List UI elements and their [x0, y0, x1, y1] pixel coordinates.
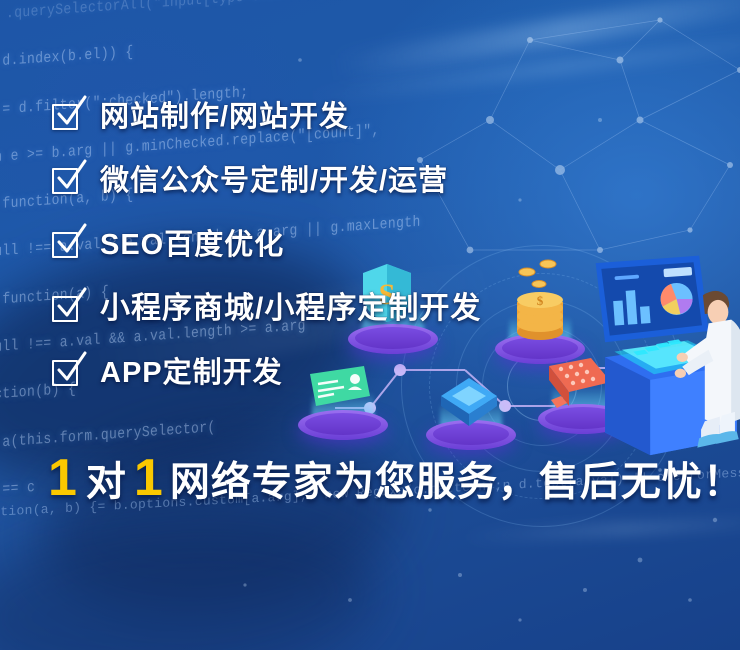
svg-text:$: $ — [537, 293, 544, 308]
feature-item-miniprogram[interactable]: 小程序商城/小程序定制开发 — [52, 288, 481, 330]
tagline-number-first: 1 — [48, 452, 77, 504]
feature-item-wechat[interactable]: 微信公众号定制/开发/运营 — [52, 160, 481, 202]
dashboard-kiosk-illustration — [590, 252, 740, 472]
checkbox-checked-icon — [52, 294, 82, 324]
checkbox-checked-icon — [52, 102, 82, 132]
promo-banner: .querySelectorAll("input[type=checkbox]"… — [0, 0, 740, 650]
checkbox-checked-icon — [52, 358, 82, 388]
feature-list: 网站制作/网站开发 微信公众号定制/开发/运营 SEO百度优化 小程序商城/小程… — [52, 96, 481, 394]
feature-item-website[interactable]: 网站制作/网站开发 — [52, 96, 481, 138]
tagline-number-second: 1 — [134, 452, 163, 504]
feature-label: 小程序商城/小程序定制开发 — [100, 292, 481, 326]
light-streak — [460, 515, 740, 542]
light-streak — [331, 0, 740, 81]
dashboard-screen — [596, 256, 709, 343]
feature-item-seo[interactable]: SEO百度优化 — [52, 224, 481, 266]
feature-label: 网站制作/网站开发 — [100, 100, 349, 134]
blur-shape-desk — [0, 502, 387, 650]
checkbox-checked-icon — [52, 230, 82, 260]
checkbox-checked-icon — [52, 166, 82, 196]
feature-label: APP定制开发 — [100, 356, 283, 390]
tagline-rest-text: 网络专家为您服务，售后无忧！ — [170, 456, 740, 508]
light-streak — [301, 28, 740, 105]
coin-stack-icon: $ — [505, 258, 575, 342]
tagline: 1 对 1 网络专家为您服务，售后无忧！ — [48, 452, 740, 508]
feature-item-app[interactable]: APP定制开发 — [52, 352, 481, 394]
feature-label: 微信公众号定制/开发/运营 — [100, 164, 448, 198]
feature-label: SEO百度优化 — [100, 228, 284, 262]
tagline-middle-word: 对 — [86, 456, 127, 508]
